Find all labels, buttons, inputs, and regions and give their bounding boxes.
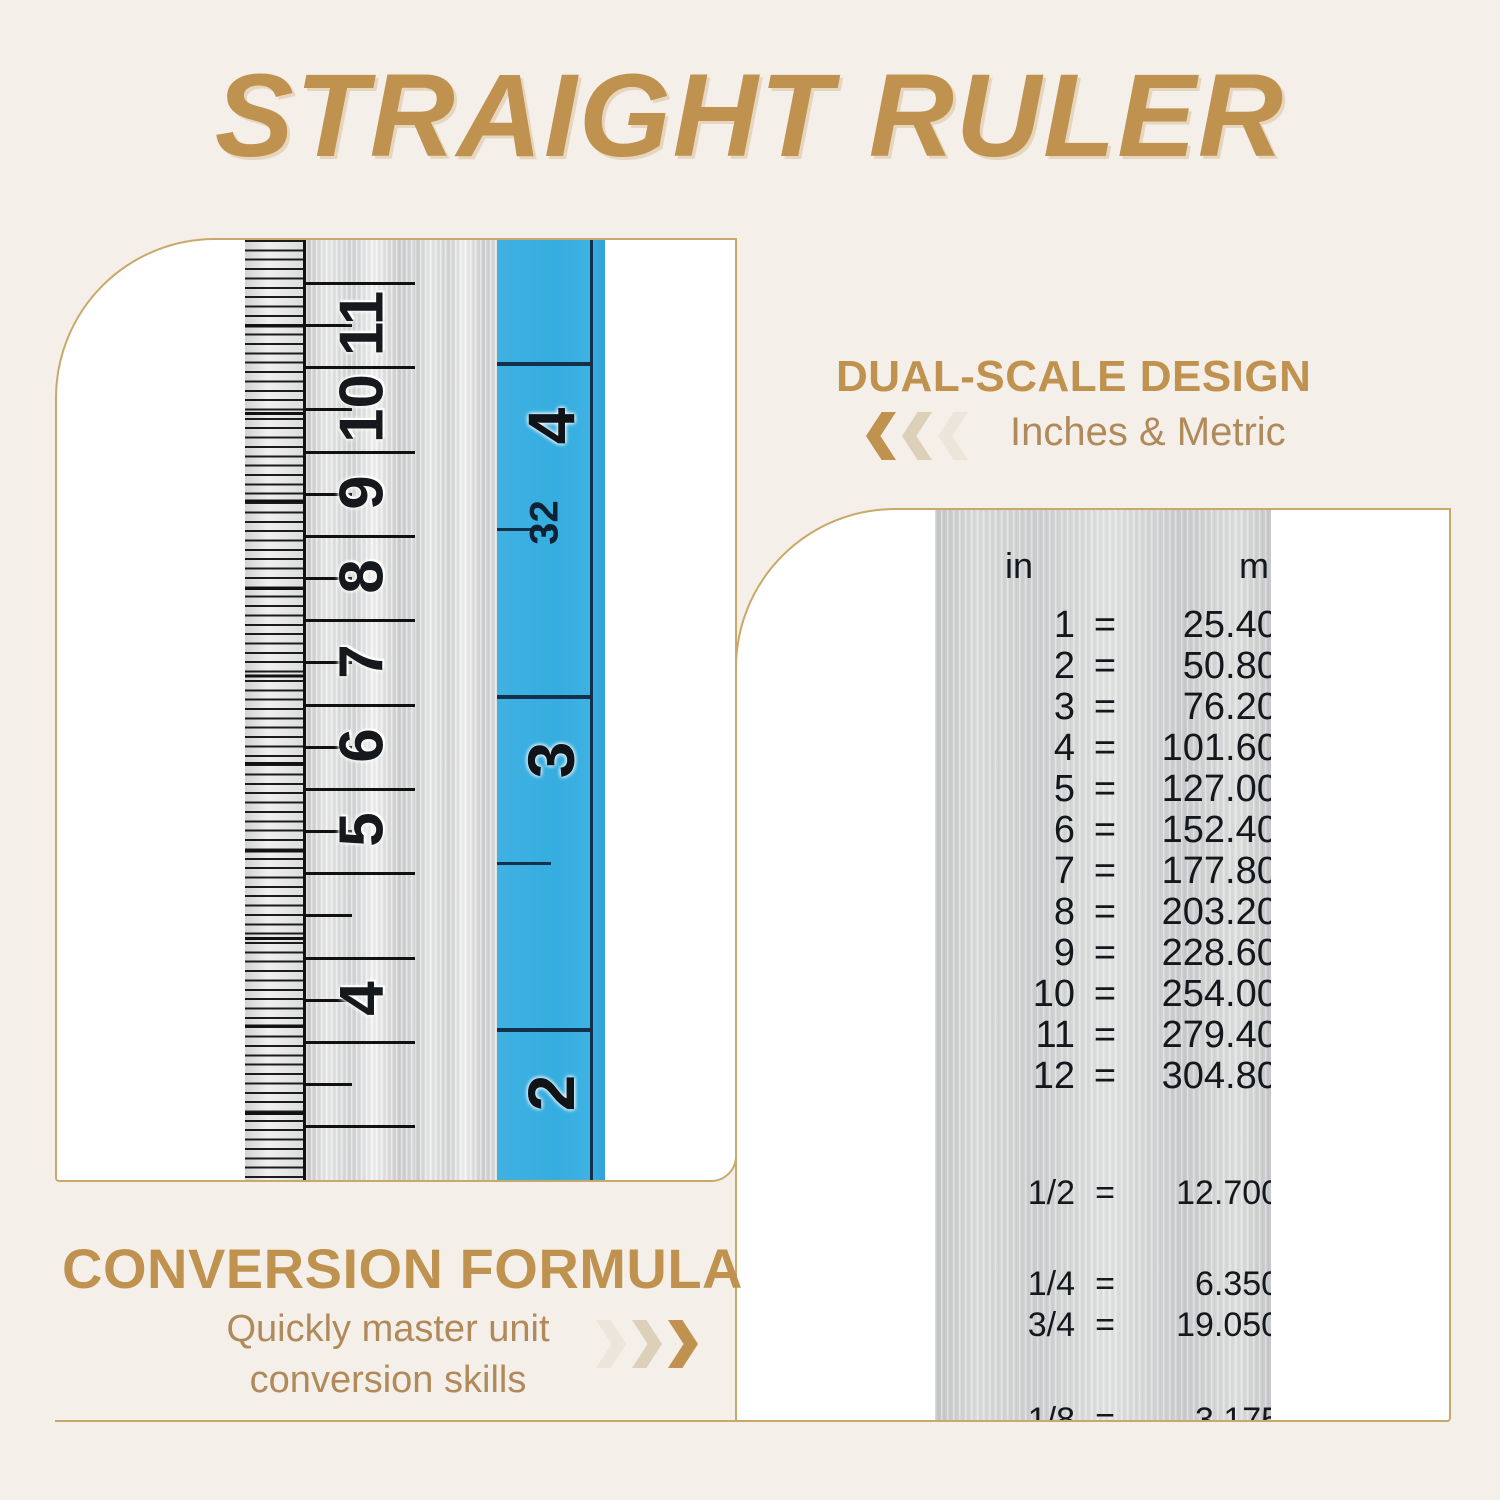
cell-inches: 1/2 (963, 1176, 1079, 1210)
cell-equals: = (1079, 1057, 1131, 1095)
cell-inches: 7 (963, 852, 1079, 890)
table-row-whole: 10=254.000 (963, 975, 1271, 1013)
cell-inches: 1/8 (963, 1403, 1079, 1420)
table-row-eighth: 1/8=3.1750 (963, 1403, 1271, 1420)
table-row-whole: 1=25.400 (963, 606, 1271, 644)
table-row-whole: 8=203.200 (963, 893, 1271, 931)
conversion-formula-heading: CONVERSION FORMULA (62, 1236, 743, 1301)
conversion-table-plate: inmm1=25.4002=50.8003=76.2004=101.6005=1… (935, 510, 1271, 1420)
cell-inches: 12 (963, 1057, 1079, 1095)
dual-scale-subtitle: Inches & Metric (1010, 410, 1286, 455)
metric-label: 5 (327, 774, 398, 886)
table-row-whole: 2=50.800 (963, 647, 1271, 685)
table-row-quarter: 3/4=19.0500 (963, 1308, 1271, 1342)
cell-equals: = (1079, 1267, 1131, 1301)
table-row-whole: 6=152.400 (963, 811, 1271, 849)
page-title: STRAIGHT RULER (0, 48, 1500, 184)
chevron-left-icon (938, 412, 968, 460)
cell-inches: in (963, 548, 1079, 584)
ruler-photo-image: 11 10 9 8 7 6 5 4 4 3 2 32 (245, 240, 605, 1180)
chevron-right-icon (632, 1320, 662, 1368)
cell-millimeters: 19.0500 (1131, 1308, 1271, 1342)
table-header-row: inmm (963, 548, 1271, 584)
cell-equals: = (1079, 975, 1131, 1013)
cell-equals: = (1079, 811, 1131, 849)
cell-inches: 11 (963, 1016, 1079, 1054)
cell-millimeters: 25.400 (1131, 606, 1271, 644)
cell-inches: 3/4 (963, 1308, 1079, 1342)
cell-equals: = (1079, 647, 1131, 685)
cell-millimeters: 12.7000 (1131, 1176, 1271, 1210)
cell-equals: = (1079, 1016, 1131, 1054)
inch-label: 3 (513, 706, 589, 814)
cell-millimeters: 254.000 (1131, 975, 1271, 1013)
cell-equals: = (1079, 852, 1131, 890)
cell-inches: 8 (963, 893, 1079, 931)
conversion-formula-subtitle: Quickly master unit conversion skills (188, 1304, 588, 1407)
cell-millimeters: 127.000 (1131, 770, 1271, 808)
conversion-subtitle-line-2: conversion skills (188, 1355, 588, 1406)
metric-label: 4 (327, 943, 398, 1055)
dual-scale-chevrons (866, 412, 968, 460)
metric-label-column: 11 10 9 8 7 6 5 4 (303, 240, 418, 1180)
cell-equals: = (1079, 1403, 1131, 1420)
cell-equals: = (1079, 934, 1131, 972)
cell-millimeters: 50.800 (1131, 647, 1271, 685)
conversion-chevrons (596, 1320, 698, 1368)
infographic-canvas: STRAIGHT RULER (0, 0, 1500, 1500)
table-row-whole: 11=279.400 (963, 1016, 1271, 1054)
cell-inches: 4 (963, 729, 1079, 767)
table-row-whole: 9=228.600 (963, 934, 1271, 972)
cell-equals: = (1079, 893, 1131, 931)
cell-millimeters: 228.600 (1131, 934, 1271, 972)
chevron-right-icon (668, 1320, 698, 1368)
chevron-left-icon (902, 412, 932, 460)
cell-equals: = (1079, 1176, 1131, 1210)
inch-label: 2 (513, 1039, 589, 1147)
inch-subdivision-label: 32 (523, 469, 568, 577)
table-row-half: 1/2=12.7000 (963, 1176, 1271, 1210)
cell-millimeters: 177.800 (1131, 852, 1271, 890)
cell-equals: = (1079, 1308, 1131, 1342)
cell-millimeters: 76.200 (1131, 688, 1271, 726)
cell-millimeters: 304.800 (1131, 1057, 1271, 1095)
cell-millimeters: 3.1750 (1131, 1403, 1271, 1420)
cell-equals: = (1079, 770, 1131, 808)
dual-scale-heading: DUAL-SCALE DESIGN (836, 352, 1311, 402)
cell-millimeters: 203.200 (1131, 893, 1271, 931)
table-row-whole: 12=304.800 (963, 1057, 1271, 1095)
table-row-whole: 7=177.800 (963, 852, 1271, 890)
cell-millimeters: 6.3500 (1131, 1267, 1271, 1301)
chevron-left-icon (866, 412, 896, 460)
cell-millimeters: mm (1131, 548, 1271, 584)
chevron-right-icon (596, 1320, 626, 1368)
imperial-blue-band: 4 3 2 32 (497, 240, 605, 1180)
cell-inches: 2 (963, 647, 1079, 685)
cell-inches: 6 (963, 811, 1079, 849)
table-row-whole: 3=76.200 (963, 688, 1271, 726)
ruler-blank-metal (415, 240, 497, 1180)
cell-inches: 1/4 (963, 1267, 1079, 1301)
table-row-quarter: 1/4=6.3500 (963, 1267, 1271, 1301)
cell-equals: = (1079, 729, 1131, 767)
cell-equals: = (1079, 688, 1131, 726)
cell-inches: 1 (963, 606, 1079, 644)
cell-inches: 5 (963, 770, 1079, 808)
imperial-tick-edge (590, 240, 605, 1180)
metric-tick-strip (245, 240, 303, 1180)
table-row-whole: 5=127.000 (963, 770, 1271, 808)
cell-millimeters: 101.600 (1131, 729, 1271, 767)
cell-inches: 3 (963, 688, 1079, 726)
cell-inches: 9 (963, 934, 1079, 972)
cell-equals: = (1079, 606, 1131, 644)
table-row-whole: 4=101.600 (963, 729, 1271, 767)
conversion-subtitle-line-1: Quickly master unit (188, 1304, 588, 1355)
cell-millimeters: 279.400 (1131, 1016, 1271, 1054)
inch-label: 4 (513, 372, 589, 480)
cell-inches: 10 (963, 975, 1079, 1013)
cell-millimeters: 152.400 (1131, 811, 1271, 849)
